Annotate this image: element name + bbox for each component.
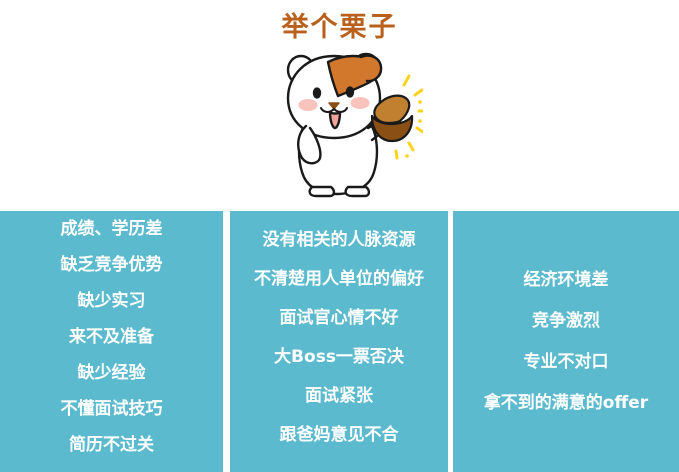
list-item: 拿不到的满意的offer <box>484 395 648 412</box>
list-item: 大Boss一票否决 <box>274 349 404 366</box>
panel-interview-factors: 没有相关的人脉资源 不清楚用人单位的偏好 面试官心情不好 大Boss一票否决 面… <box>230 211 448 472</box>
list-item: 来不及准备 <box>69 329 154 346</box>
list-item: 缺少经验 <box>78 365 146 382</box>
hero-section: 举个栗子 <box>0 0 679 205</box>
list-item: 跟爸妈意见不合 <box>280 427 399 444</box>
list-item: 没有相关的人脉资源 <box>263 232 416 249</box>
bear-holding-chestnut-icon <box>268 48 423 203</box>
page-title: 举个栗子 <box>0 14 679 41</box>
panel-external-factors: 经济环境差 竞争激烈 专业不对口 拿不到的满意的offer <box>453 211 679 472</box>
list-item: 面试官心情不好 <box>280 310 399 327</box>
list-item: 经济环境差 <box>524 272 609 289</box>
list-item: 不清楚用人单位的偏好 <box>254 271 424 288</box>
list-item: 竞争激烈 <box>532 313 600 330</box>
list-item: 缺少实习 <box>78 293 146 310</box>
panel-self-factors: 成绩、学历差 缺乏竞争优势 缺少实习 来不及准备 缺少经验 不懂面试技巧 简历不… <box>0 211 223 472</box>
list-item: 简历不过关 <box>69 437 154 454</box>
list-item: 面试紧张 <box>305 388 373 405</box>
list-item: 不懂面试技巧 <box>61 401 163 418</box>
list-item: 缺乏竞争优势 <box>61 257 163 274</box>
list-item: 专业不对口 <box>524 354 609 371</box>
panel-item-list: 没有相关的人脉资源 不清楚用人单位的偏好 面试官心情不好 大Boss一票否决 面… <box>236 221 442 463</box>
panel-item-list: 经济环境差 竞争激烈 专业不对口 拿不到的满意的offer <box>459 260 673 424</box>
list-item: 成绩、学历差 <box>61 221 163 238</box>
reasons-panel-group: 成绩、学历差 缺乏竞争优势 缺少实习 来不及准备 缺少经验 不懂面试技巧 简历不… <box>0 211 679 472</box>
panel-item-list: 成绩、学历差 缺乏竞争优势 缺少实习 来不及准备 缺少经验 不懂面试技巧 简历不… <box>6 212 217 472</box>
